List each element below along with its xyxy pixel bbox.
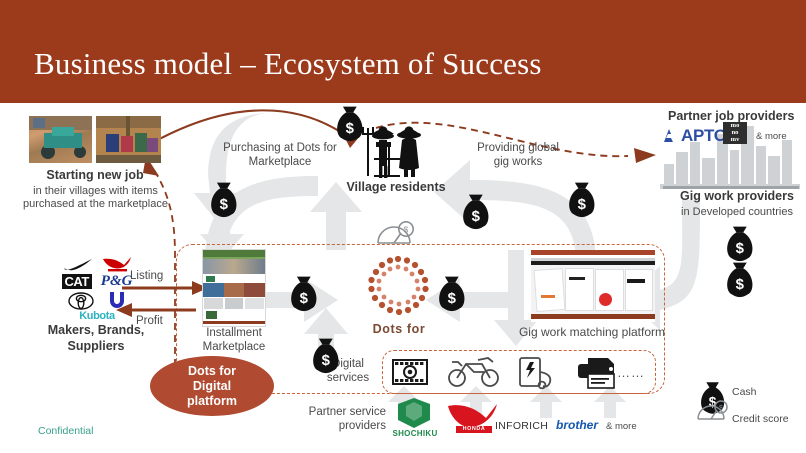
legend-label-cash: Cash <box>732 386 757 398</box>
pg-logo: P&G <box>101 273 133 290</box>
honda-wing-icon <box>102 256 132 272</box>
dots-for-label: Dots for <box>363 322 435 336</box>
maker-logos-row-3 <box>44 291 150 310</box>
ellipse-line1: Dots for <box>187 364 237 379</box>
digital-services-ellipsis: …… <box>617 365 645 380</box>
starting-new-job-title: Starting new job <box>14 169 176 182</box>
page-title: Business model – Ecosystem of Success <box>34 46 542 82</box>
providing-gig-line1: Providing global <box>462 141 574 155</box>
starting-new-job-line2: purchased at the marketplace <box>8 198 183 211</box>
digital-services-boundary <box>382 350 656 394</box>
purchasing-label-line1: Purchasing at Dots for <box>210 141 350 155</box>
gig-work-providers-subtitle: in Developed countries <box>668 206 806 219</box>
kubota-logo: Kubota <box>44 310 150 322</box>
makers-label-line2: Suppliers <box>16 340 176 353</box>
brother-logo: brother <box>556 418 598 432</box>
installment-marketplace-line2: Marketplace <box>188 341 280 354</box>
purchasing-label-line2: Marketplace <box>210 155 350 169</box>
unilever-logo-icon <box>108 291 126 310</box>
honda-wordmark: HONDA <box>456 426 492 433</box>
partner-service-more: & more <box>606 421 637 432</box>
partner-service-line1: Partner service <box>284 406 386 419</box>
digital-services-line2: services <box>318 372 378 385</box>
credit-gauge-icon-legend <box>698 401 727 419</box>
partner-service-line2: providers <box>284 420 386 433</box>
ellipse-line2: Digital <box>187 379 237 394</box>
toyota-logo-icon <box>68 292 94 310</box>
installment-marketplace-line1: Installment <box>188 327 280 340</box>
legend-label-credit-score: Credit score <box>732 413 789 425</box>
village-residents-label: Village residents <box>336 181 456 194</box>
providing-gig-line2: gig works <box>462 155 574 169</box>
partner-job-more: & more <box>756 131 787 142</box>
slide-canvas: Business model – Ecosystem of Success <box>0 0 806 453</box>
apto-wordmark: APTO <box>681 126 727 146</box>
cat-logo: CAT <box>62 274 92 289</box>
svg-text:$: $ <box>719 405 723 412</box>
dots-for-ring-icon <box>363 252 433 322</box>
apto-mark-icon <box>662 128 677 144</box>
gig-matching-screenshot <box>531 250 655 322</box>
svg-text:$: $ <box>404 226 409 235</box>
gig-work-providers-title: Gig work providers <box>672 190 802 203</box>
confidential-label: Confidential <box>38 425 93 437</box>
photo-motorcycle-cart <box>29 116 92 163</box>
shochiku-logo: SHOCHIKU <box>392 429 438 438</box>
mononomy-logo: monomv <box>723 122 747 144</box>
digital-services-line1: Digital <box>318 358 378 371</box>
dots-digital-platform-ellipse[interactable]: Dots for Digital platform <box>150 356 274 416</box>
listing-label: Listing <box>130 270 190 283</box>
profit-label: Profit <box>136 315 196 328</box>
ellipse-line3: platform <box>187 394 237 409</box>
gig-matching-label: Gig work matching platform <box>487 326 697 339</box>
nike-swoosh-icon <box>63 258 93 271</box>
inforich-logo: INFORICH <box>495 420 548 432</box>
apto-logo: APTO <box>662 126 727 146</box>
starting-new-job-line1: in their villages with items <box>8 185 183 198</box>
installment-marketplace-screenshot <box>202 249 266 327</box>
